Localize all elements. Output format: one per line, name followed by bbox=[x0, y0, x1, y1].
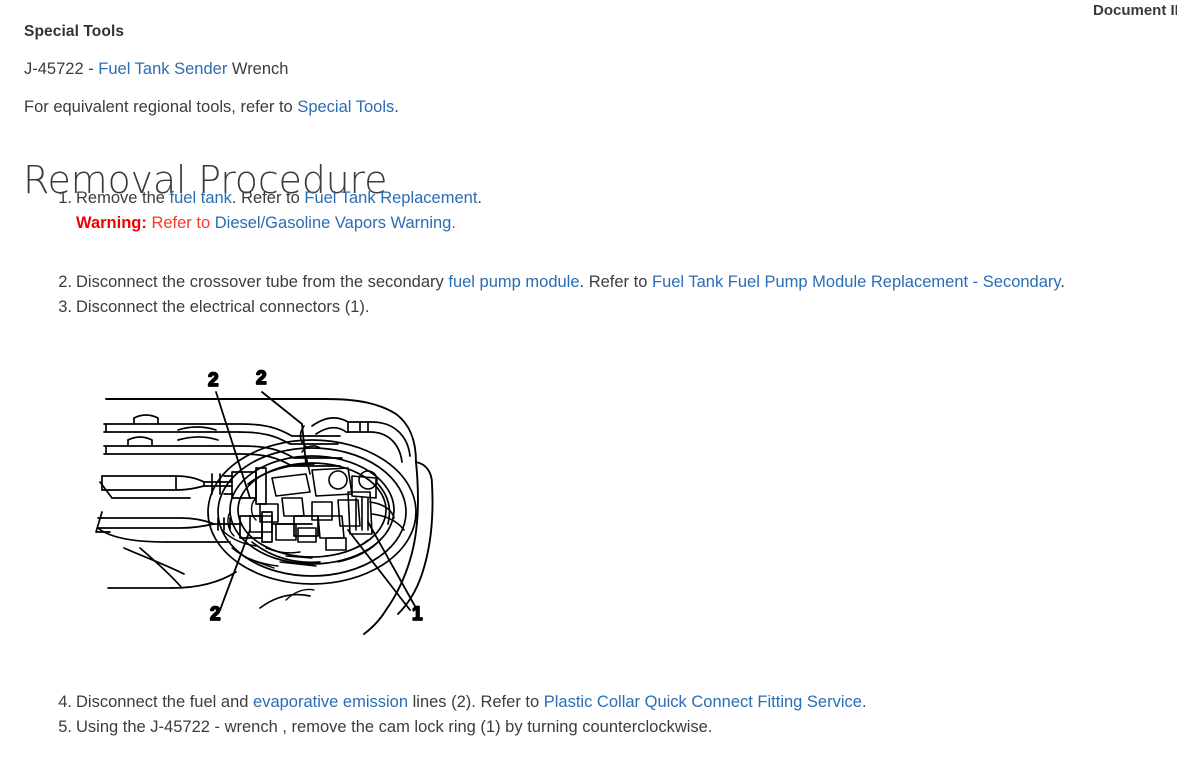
step-text: Disconnect the crossover tube from the s… bbox=[76, 273, 448, 291]
callout-2-lower: 2 bbox=[210, 604, 221, 625]
diagram-svg: 2 2 2 1 bbox=[80, 352, 500, 652]
procedure-step-2: 2.Disconnect the crossover tube from the… bbox=[0, 270, 1177, 295]
warning-text: Refer to bbox=[147, 214, 215, 232]
special-tools-heading: Special Tools bbox=[24, 23, 124, 41]
procedure-step-1: 1.Remove the fuel tank. Refer to Fuel Ta… bbox=[0, 186, 1177, 211]
link-evaporative-emission[interactable]: evaporative emission bbox=[253, 693, 408, 711]
special-tool-suffix: Wrench bbox=[227, 60, 288, 78]
link-diesel-gasoline-vapors-warning[interactable]: Diesel/Gasoline Vapors Warning bbox=[215, 214, 452, 232]
warning-note: Warning: Refer to Diesel/Gasoline Vapors… bbox=[0, 211, 1177, 236]
document-id-label: Document ID: 2 bbox=[1093, 0, 1177, 22]
step-number: 3. bbox=[52, 295, 72, 320]
diagram-detail-marks bbox=[222, 498, 382, 600]
callout-2-upper-left: 2 bbox=[208, 370, 219, 391]
link-special-tools[interactable]: Special Tools bbox=[297, 98, 394, 116]
step-text: Remove the bbox=[76, 189, 170, 207]
step-number: 1. bbox=[52, 186, 72, 211]
step-text: Using the J-45722 - wrench , remove the … bbox=[76, 718, 712, 736]
link-fuel-tank[interactable]: fuel tank bbox=[170, 189, 232, 207]
procedure-step-5: 5.Using the J-45722 - wrench , remove th… bbox=[0, 715, 1177, 740]
step-text: . Refer to bbox=[232, 189, 304, 207]
step-number: 2. bbox=[52, 270, 72, 295]
step-text: . bbox=[477, 189, 482, 207]
warning-label: Warning: bbox=[76, 214, 147, 232]
warning-suffix: . bbox=[451, 214, 456, 232]
link-fuel-tank-replacement[interactable]: Fuel Tank Replacement bbox=[304, 189, 477, 207]
link-fuel-tank-fuel-pump-module-replacement-secondary[interactable]: Fuel Tank Fuel Pump Module Replacement -… bbox=[652, 273, 1060, 291]
procedure-step-3: 3.Disconnect the electrical connectors (… bbox=[0, 295, 1177, 320]
step-number: 4. bbox=[52, 690, 72, 715]
step-number: 5. bbox=[52, 715, 72, 740]
procedure-step-4: 4.Disconnect the fuel and evaporative em… bbox=[0, 690, 1177, 715]
procedure-steps-top: 1.Remove the fuel tank. Refer to Fuel Ta… bbox=[0, 186, 1177, 320]
fuel-pump-module-diagram: 2 2 2 1 bbox=[80, 352, 500, 652]
link-fuel-tank-sender[interactable]: Fuel Tank Sender bbox=[98, 60, 227, 78]
special-tool-entry: J-45722 - Fuel Tank Sender Wrench bbox=[24, 60, 288, 79]
special-tool-number: J-45722 - bbox=[24, 60, 98, 78]
procedure-steps-bottom: 4.Disconnect the fuel and evaporative em… bbox=[0, 690, 1177, 740]
tank-lower-panel bbox=[96, 482, 310, 608]
step-text: . bbox=[1060, 273, 1065, 291]
document-id-bar: Document ID: 2 bbox=[0, 0, 1177, 22]
equivalent-tools-note: For equivalent regional tools, refer to … bbox=[24, 98, 399, 117]
step-text: . Refer to bbox=[580, 273, 652, 291]
step-text: . bbox=[862, 693, 867, 711]
step-text: lines (2). Refer to bbox=[408, 693, 544, 711]
step-text: Disconnect the electrical connectors (1)… bbox=[76, 298, 369, 316]
link-plastic-collar-quick-connect-fitting-service[interactable]: Plastic Collar Quick Connect Fitting Ser… bbox=[544, 693, 862, 711]
equivalent-tools-suffix: . bbox=[394, 98, 399, 116]
link-fuel-pump-module[interactable]: fuel pump module bbox=[448, 273, 579, 291]
callout-2-upper-right: 2 bbox=[256, 368, 267, 389]
equivalent-tools-prefix: For equivalent regional tools, refer to bbox=[24, 98, 297, 116]
step-spacer bbox=[0, 236, 1177, 270]
step-text: Disconnect the fuel and bbox=[76, 693, 253, 711]
callout-1: 1 bbox=[412, 604, 423, 625]
